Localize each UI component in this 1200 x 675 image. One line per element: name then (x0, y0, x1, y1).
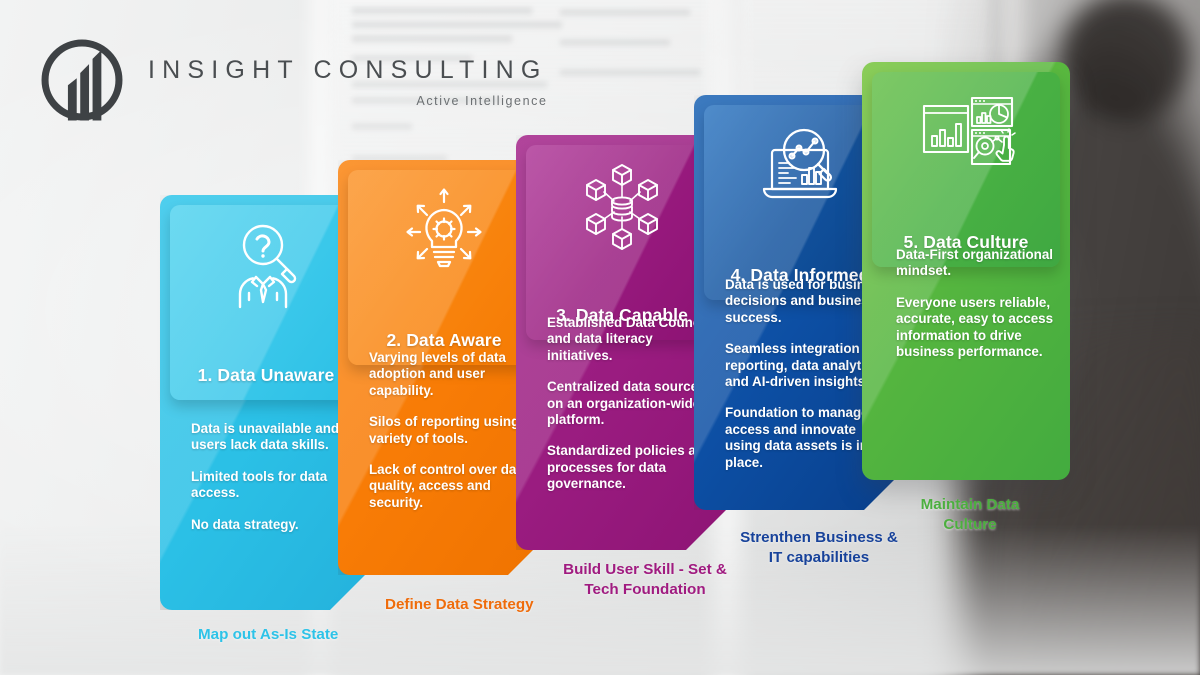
stage-card-3-header: 3. Data Capable (526, 145, 718, 340)
stage-caption-3-text: Build User Skill - Set & Tech Foundation (563, 561, 727, 598)
stage-card-2-paragraphs: Varying levels of data adoption and user… (369, 350, 538, 511)
stage-paragraph: Centralized data sources on an organizat… (547, 379, 716, 428)
stage-caption-5-text: Maintain Data Culture (921, 496, 1020, 533)
dashboard-charts-click-icon (872, 86, 1060, 180)
stage-card-3-paragraphs: Established Data Council and data litera… (547, 315, 716, 493)
stage-caption-4: Strenthen Business & IT capabilities (735, 528, 903, 567)
stage-card-5-header: 5. Data Culture (872, 72, 1060, 267)
stage-card-5[interactable]: 5. Data Culture Data-First organizationa… (862, 62, 1070, 480)
stage-card-1-title: 1. Data Unaware (170, 365, 362, 386)
stage-paragraph: Silos of reporting using a variety of to… (369, 414, 538, 447)
lightbulb-gear-arrows-icon (348, 184, 540, 280)
stage-caption-3: Build User Skill - Set & Tech Foundation (560, 560, 730, 599)
maturity-stage-chart: 1. Data Unaware Data is unavailable and … (0, 0, 1200, 675)
stage-card-2-title: 2. Data Aware (348, 330, 540, 351)
stage-caption-5: Maintain Data Culture (900, 495, 1040, 534)
person-question-magnifier-icon (170, 219, 362, 315)
stage-paragraph: No data strategy. (191, 517, 360, 533)
stage-paragraph: Data-First organizational mindset. (896, 247, 1058, 280)
stage-caption-4-text: Strenthen Business & IT capabilities (740, 529, 898, 566)
stage-paragraph: Limited tools for data access. (191, 469, 360, 502)
stage-card-5-paragraphs: Data-First organizational mindset. Every… (896, 247, 1058, 360)
cube-network-database-icon (526, 159, 718, 255)
stage-paragraph: Established Data Council and data litera… (547, 315, 716, 364)
stage-paragraph: Varying levels of data adoption and user… (369, 350, 538, 399)
stage-caption-1: Map out As-Is State (198, 625, 338, 645)
stage-card-1-paragraphs: Data is unavailable and users lack data … (191, 421, 360, 533)
stage-caption-2: Define Data Strategy (385, 595, 534, 615)
stage-card-1-header: 1. Data Unaware (170, 205, 362, 400)
stage-paragraph: Data is unavailable and users lack data … (191, 421, 360, 454)
stage-card-2-header: 2. Data Aware (348, 170, 540, 365)
stage-paragraph: Lack of control over data quality, acces… (369, 462, 538, 511)
stage-paragraph: Everyone users reliable, accurate, easy … (896, 295, 1058, 361)
stage-paragraph: Standardized policies and processes for … (547, 443, 716, 492)
